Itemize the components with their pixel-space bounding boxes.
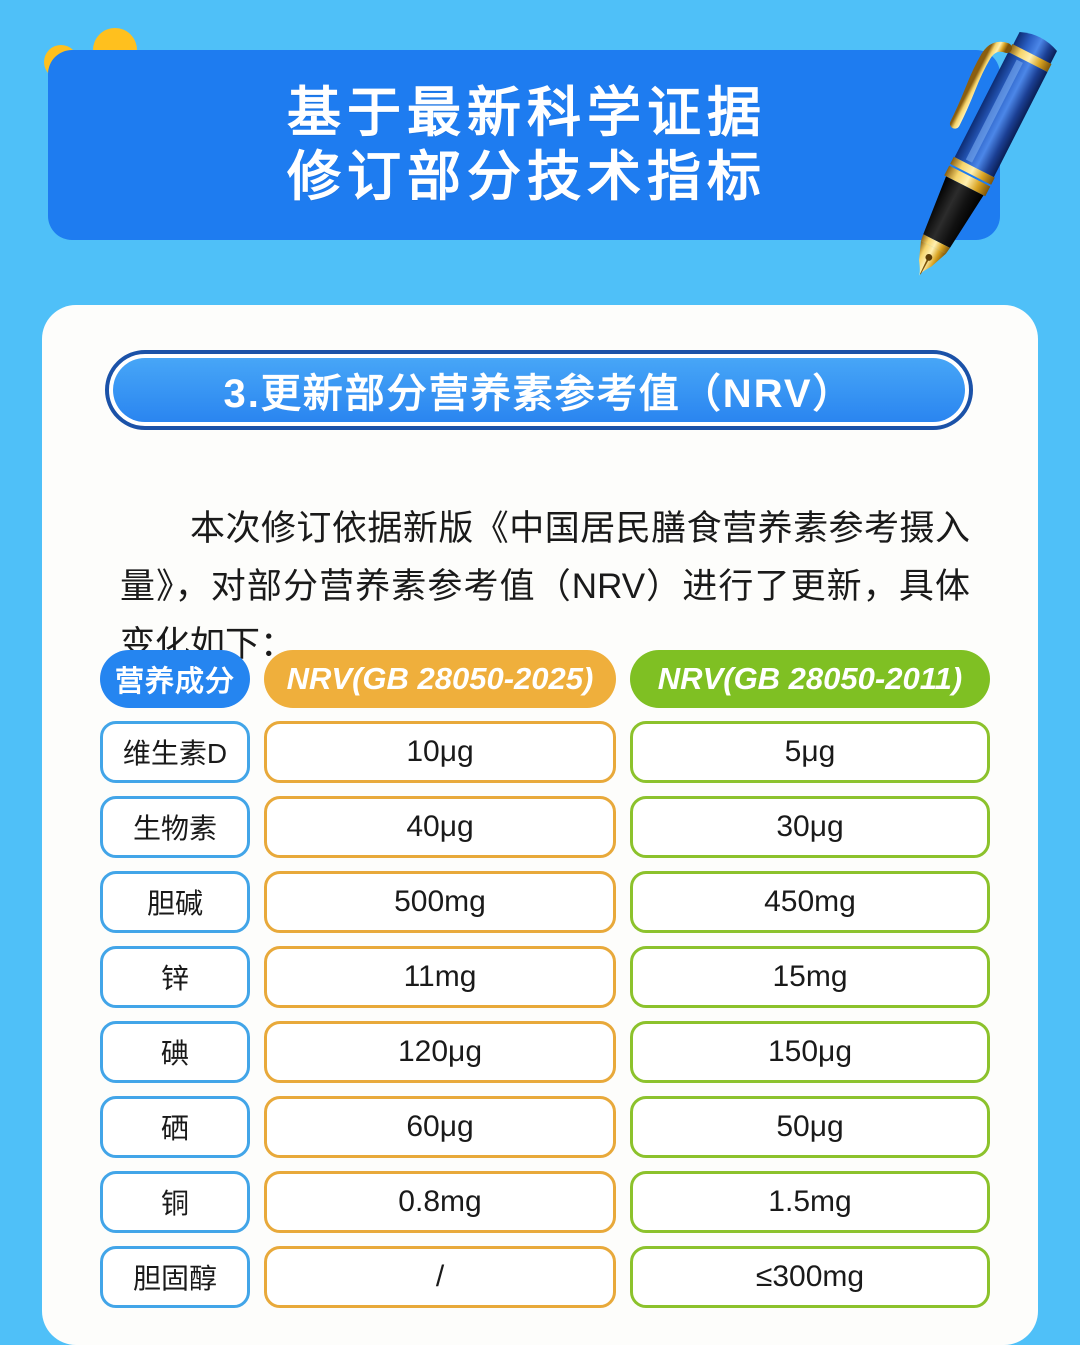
table-row: 胆碱 500mg 450mg <box>100 871 990 933</box>
cell-nrv-2025: 60μg <box>264 1096 616 1158</box>
banner-title-line-1: 基于最新科学证据 <box>281 82 767 144</box>
cell-nutrient: 碘 <box>100 1021 250 1083</box>
table-row: 锌 11mg 15mg <box>100 946 990 1008</box>
header-nutrient: 营养成分 <box>100 650 250 708</box>
cell-nrv-2011: 5μg <box>630 721 990 783</box>
section-title-text: 3.更新部分营养素参考值（NRV） <box>223 361 854 419</box>
cell-nrv-2011: 15mg <box>630 946 990 1008</box>
table-row: 硒 60μg 50μg <box>100 1096 990 1158</box>
cell-nrv-2011: ≤300mg <box>630 1246 990 1308</box>
intro-paragraph: 本次修订依据新版《中国居民膳食营养素参考摄入量》，对部分营养素参考值（NRV）进… <box>120 500 970 674</box>
table-row: 维生素D 10μg 5μg <box>100 721 990 783</box>
section-title-inner: 3.更新部分营养素参考值（NRV） <box>113 358 965 422</box>
banner-title-line-2: 修订部分技术指标 <box>281 146 767 208</box>
cell-nrv-2011: 30μg <box>630 796 990 858</box>
cell-nutrient: 胆碱 <box>100 871 250 933</box>
table-header-row: 营养成分 NRV(GB 28050-2025) NRV(GB 28050-201… <box>100 650 990 708</box>
section-title-pill: 3.更新部分营养素参考值（NRV） <box>105 350 973 430</box>
cell-nrv-2025: 11mg <box>264 946 616 1008</box>
cell-nutrient: 铜 <box>100 1171 250 1233</box>
header-banner: 基于最新科学证据 修订部分技术指标 <box>48 50 1000 240</box>
cell-nrv-2025: 10μg <box>264 721 616 783</box>
cell-nrv-2025: 120μg <box>264 1021 616 1083</box>
cell-nutrient: 维生素D <box>100 721 250 783</box>
cell-nrv-2011: 1.5mg <box>630 1171 990 1233</box>
table-row: 铜 0.8mg 1.5mg <box>100 1171 990 1233</box>
nrv-comparison-table: 营养成分 NRV(GB 28050-2025) NRV(GB 28050-201… <box>100 650 990 1321</box>
cell-nutrient: 锌 <box>100 946 250 1008</box>
fountain-pen-icon <box>885 18 1080 286</box>
cell-nutrient: 生物素 <box>100 796 250 858</box>
cell-nrv-2011: 50μg <box>630 1096 990 1158</box>
cell-nutrient: 硒 <box>100 1096 250 1158</box>
table-row: 碘 120μg 150μg <box>100 1021 990 1083</box>
header-nrv-2025: NRV(GB 28050-2025) <box>264 650 616 708</box>
table-row: 生物素 40μg 30μg <box>100 796 990 858</box>
banner-title: 基于最新科学证据 修订部分技术指标 <box>48 50 1000 240</box>
cell-nrv-2025: / <box>264 1246 616 1308</box>
cell-nrv-2011: 150μg <box>630 1021 990 1083</box>
cell-nrv-2025: 40μg <box>264 796 616 858</box>
header-nrv-2011: NRV(GB 28050-2011) <box>630 650 990 708</box>
table-row: 胆固醇 / ≤300mg <box>100 1246 990 1308</box>
cell-nrv-2025: 500mg <box>264 871 616 933</box>
cell-nutrient: 胆固醇 <box>100 1246 250 1308</box>
cell-nrv-2011: 450mg <box>630 871 990 933</box>
cell-nrv-2025: 0.8mg <box>264 1171 616 1233</box>
content-card: 3.更新部分营养素参考值（NRV） 本次修订依据新版《中国居民膳食营养素参考摄入… <box>42 305 1038 1345</box>
